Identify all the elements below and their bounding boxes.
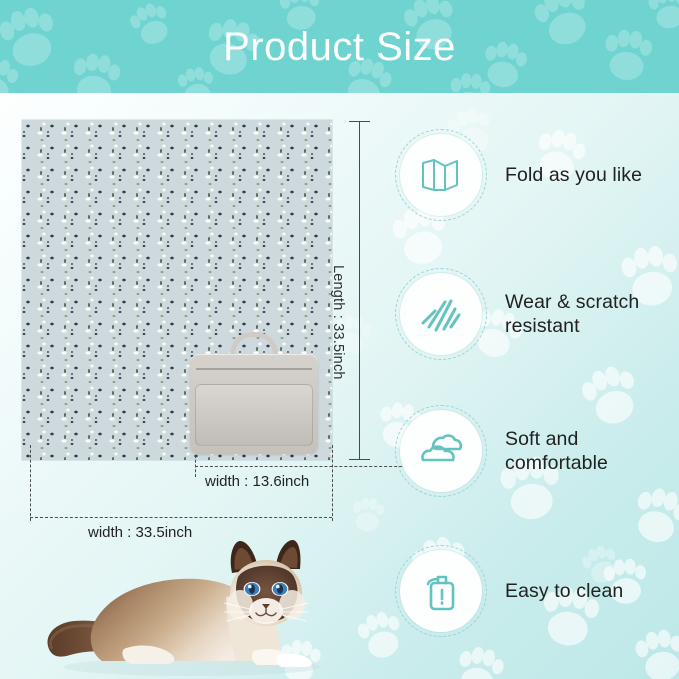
mat-width-tick-right: [332, 445, 333, 521]
header-banner: Product Size: [0, 0, 679, 93]
feature-item-easy-clean: Easy to clean: [395, 545, 679, 637]
content-area: Length : 33.5inch width : 13.6inch width…: [0, 93, 679, 679]
mat-width-guide-line: [30, 517, 332, 518]
clouds-icon: [416, 431, 466, 471]
feature-list: Fold as you like: [395, 111, 679, 671]
length-guide-cap-bottom: [349, 459, 370, 460]
sleeve-zipper: [196, 368, 312, 370]
icon-disc: [400, 273, 482, 355]
icon-disc: [400, 410, 482, 492]
sleeve-width-guide-line: [195, 466, 417, 467]
detergent-bottle-icon: [420, 569, 462, 613]
feature-icon-wrap: [395, 268, 487, 360]
feature-label: Wear & scratchresistant: [505, 290, 639, 339]
sleeve-front-pocket: [195, 384, 313, 446]
length-dimension-label: Length : 33.5inch: [330, 265, 346, 380]
feature-label: Fold as you like: [505, 163, 642, 187]
feature-icon-wrap: [395, 545, 487, 637]
feature-item-fold: Fold as you like: [395, 129, 679, 221]
icon-disc: [400, 550, 482, 632]
feature-label: Soft andcomfortable: [505, 427, 608, 476]
page-title: Product Size: [0, 0, 679, 93]
feature-icon-wrap: [395, 129, 487, 221]
sleeve-body: [190, 354, 318, 454]
ragdoll-cat-image: [40, 525, 340, 677]
feature-label: Easy to clean: [505, 579, 623, 603]
icon-disc: [400, 134, 482, 216]
scratch-lines-icon: [418, 293, 464, 335]
feature-item-soft: Soft andcomfortable: [395, 405, 679, 497]
mat-width-tick-left: [30, 445, 31, 521]
length-guide-line: [359, 121, 360, 459]
feature-icon-wrap: [395, 405, 487, 497]
laptop-sleeve-product: [190, 332, 318, 454]
sleeve-width-dimension-label: width : 13.6inch: [205, 473, 309, 490]
product-size-infographic: Product Size: [0, 0, 679, 679]
feature-item-wear-scratch: Wear & scratchresistant: [395, 268, 679, 360]
folded-map-icon: [419, 155, 463, 195]
